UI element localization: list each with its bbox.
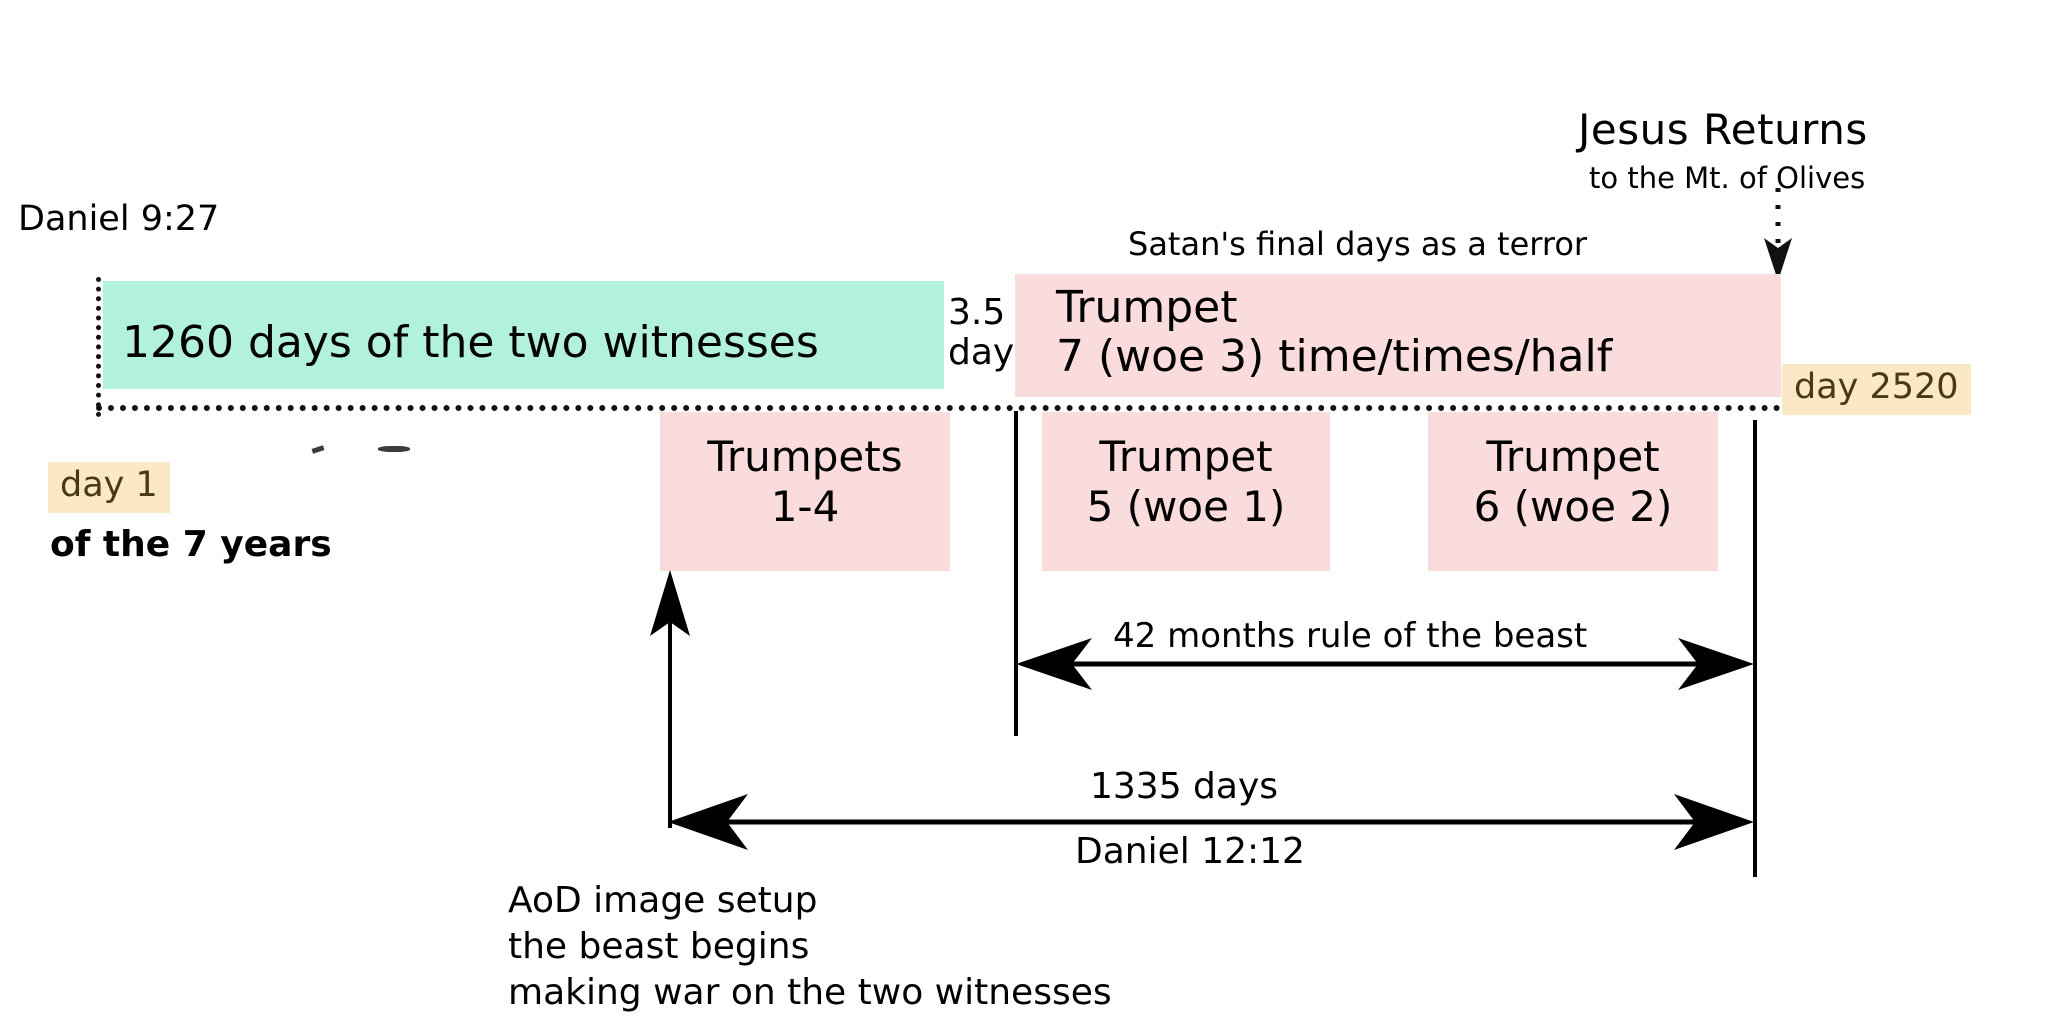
day-2520-badge: day 2520	[1782, 364, 1971, 415]
dotted-down-arrow-icon	[1758, 186, 1798, 281]
day-1-dotted-divider	[96, 277, 101, 417]
aod-footnote: AoD image setup the beast begins making …	[508, 878, 1112, 1016]
daniel-9-27-label: Daniel 9:27	[18, 200, 219, 239]
erased-text-artifact	[312, 445, 325, 453]
beast-start-vertical-rule	[1014, 411, 1018, 736]
jesus-returns-subtitle: to the Mt. of Olives	[1589, 162, 1865, 194]
trumpet-6-box: Trumpet 6 (woe 2)	[1428, 412, 1718, 571]
jesus-returns-title: Jesus Returns	[1578, 106, 1868, 153]
trumpet-5-box: Trumpet 5 (woe 1)	[1042, 412, 1330, 571]
trumpets-1-4-box: Trumpets 1-4	[660, 412, 950, 571]
measure-arrows-layer	[0, 0, 2048, 1030]
trumpet-5-label: Trumpet 5 (woe 1)	[1042, 432, 1330, 531]
trumpet-7-band-label: Trumpet 7 (woe 3) time/times/half	[1056, 283, 1612, 382]
two-witnesses-band-label: 1260 days of the two witnesses	[122, 318, 819, 367]
prophecy-timeline-diagram: Daniel 9:27 Jesus Returns to the Mt. of …	[0, 0, 2048, 1030]
day-2520-vertical-rule	[1753, 420, 1757, 877]
trumpet-6-label: Trumpet 6 (woe 2)	[1428, 432, 1718, 531]
erased-text-artifact	[378, 446, 410, 452]
day-1-badge: day 1	[48, 462, 170, 513]
aod-marker-vertical-rule	[668, 576, 672, 828]
daniel-12-12-label: Daniel 12:12	[1075, 832, 1305, 872]
1335-days-label: 1335 days	[1090, 767, 1278, 807]
42-months-rule-label: 42 months rule of the beast	[1113, 617, 1587, 655]
trumpets-1-4-label: Trumpets 1-4	[660, 432, 950, 531]
of-the-7-years-label: of the 7 years	[50, 525, 332, 565]
satan-final-days-label: Satan's final days as a terror	[1128, 227, 1587, 263]
timeline-dotted-baseline	[96, 405, 1781, 411]
